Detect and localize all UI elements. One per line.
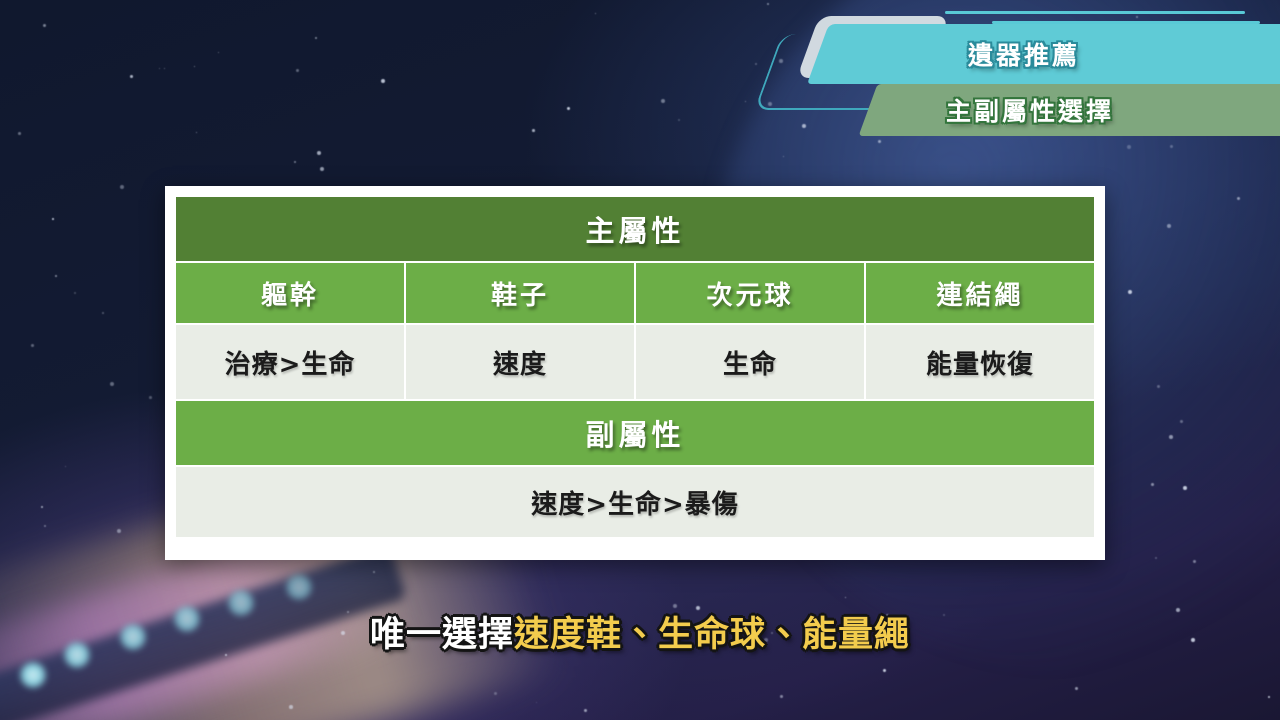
banner-secondary-label: 主副屬性選擇 xyxy=(946,92,1114,128)
table-row-sub-title: 副屬性 xyxy=(176,401,1094,465)
caption-lead: 唯一選擇 xyxy=(370,615,514,655)
value-sphere: 生命 xyxy=(636,325,864,399)
column-header-rope: 連結繩 xyxy=(866,263,1094,323)
sub-stat-section-title: 副屬性 xyxy=(176,401,1094,465)
relic-recommendation-card: 主屬性 軀幹 鞋子 次元球 連結繩 治療>生命 速度 生命 能量恢復 副屬性 xyxy=(165,186,1105,560)
caption-highlight: 速度鞋、生命球、能量繩 xyxy=(514,615,910,655)
value-feet: 速度 xyxy=(406,325,634,399)
title-banner-group: 遺器推薦 主副屬性選擇 xyxy=(760,0,1280,150)
banner-secondary: 主副屬性選擇 xyxy=(859,84,1280,136)
table-row-main-columns: 軀幹 鞋子 次元球 連結繩 xyxy=(176,263,1094,323)
banner-primary: 遺器推薦 xyxy=(807,24,1280,84)
relic-stat-table: 主屬性 軀幹 鞋子 次元球 連結繩 治療>生命 速度 生命 能量恢復 副屬性 xyxy=(174,195,1096,539)
decor-line-top-1 xyxy=(945,11,1245,14)
value-body: 治療>生命 xyxy=(176,325,404,399)
sub-stat-priority-value: 速度>生命>暴傷 xyxy=(176,467,1094,537)
column-header-feet: 鞋子 xyxy=(406,263,634,323)
table-row-main-values: 治療>生命 速度 生命 能量恢復 xyxy=(176,325,1094,399)
banner-primary-label: 遺器推薦 xyxy=(968,36,1080,72)
screenshot-stage: 遺器推薦 主副屬性選擇 主屬性 軀幹 鞋子 次元球 連結繩 治療>生命 速度 xyxy=(0,0,1280,720)
caption-subtitle: 唯一選擇速度鞋、生命球、能量繩 xyxy=(0,606,1280,657)
column-header-body: 軀幹 xyxy=(176,263,404,323)
table-row-sub-value: 速度>生命>暴傷 xyxy=(176,467,1094,537)
table-row-main-title: 主屬性 xyxy=(176,197,1094,261)
column-header-sphere: 次元球 xyxy=(636,263,864,323)
main-stat-section-title: 主屬性 xyxy=(176,197,1094,261)
value-rope: 能量恢復 xyxy=(866,325,1094,399)
